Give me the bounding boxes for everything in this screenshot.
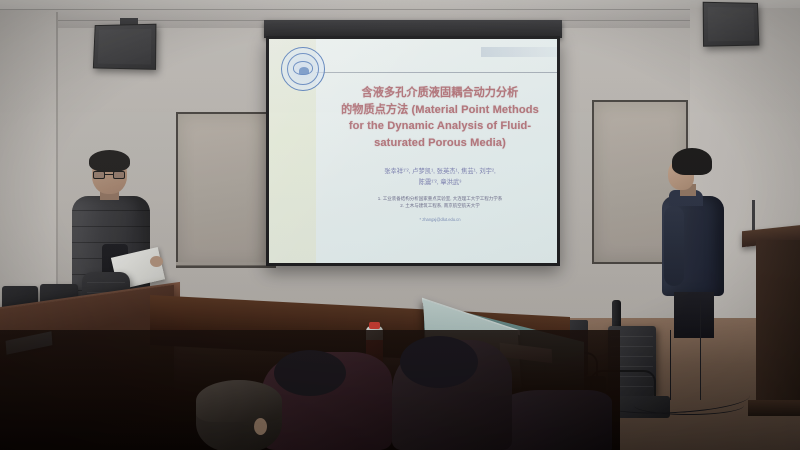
floor-cable — [634, 396, 744, 415]
seal-emblem — [299, 67, 309, 74]
presentation-slide: 含液多孔介质液固耦合动力分析 的物质点方法 (Material Point Me… — [269, 39, 557, 263]
lectern-base — [748, 400, 800, 416]
slide-title-line-2: 的物质点方法 (Material Point Methods — [321, 102, 557, 119]
presenter-right-hand — [150, 256, 163, 267]
slide-authors: 张幸祥¹ʼ², 卢梦凯¹, 张英杰¹, 焦芸¹, 刘宇², 陈震¹ʼ², 章洪武… — [321, 167, 557, 188]
presentation-photo: 含液多孔介质液固耦合动力分析 的物质点方法 (Material Point Me… — [0, 0, 800, 450]
presenter-hair — [89, 150, 130, 172]
audience-member-1 — [196, 380, 282, 450]
lectern-body — [756, 240, 800, 406]
slide-title-line-4: saturated Porous Media) — [321, 135, 557, 152]
audience-member-3 — [392, 340, 512, 450]
ceiling-seam — [0, 9, 800, 10]
speaker-grill — [708, 7, 755, 42]
slide-divider-rule — [316, 72, 557, 73]
floor-cable — [700, 300, 709, 400]
slide-affiliations: 1. 工业装备结构分析国家重点实验室, 大连理工大学工程力学系 2. 土木与建筑… — [321, 195, 557, 210]
board-tray-left — [176, 262, 276, 266]
standing-attendee — [652, 148, 740, 338]
university-seal-logo — [281, 47, 325, 91]
slide-title: 含液多孔介质液固耦合动力分析 的物质点方法 (Material Point Me… — [321, 85, 557, 151]
wall-speaker-right — [703, 2, 760, 47]
affiliation-line-2: 2. 土木与建筑工程系, 南京航空航天大学 — [321, 202, 557, 209]
speaker-grill — [98, 29, 152, 65]
slide-header-block — [481, 47, 557, 57]
audience-hair — [274, 350, 346, 396]
slide-title-line-1: 含液多孔介质液固耦合动力分析 — [321, 85, 557, 102]
slide-email: * zhangxj@dlut.edu.cn — [321, 217, 557, 222]
slide-title-line-3: for the Dynamic Analysis of Fluid- — [321, 118, 557, 135]
attendee-arm — [664, 206, 684, 286]
projection-screen: 含液多孔介质液固耦合动力分析 的物质点方法 (Material Point Me… — [266, 36, 560, 266]
whiteboard-panel-left — [176, 112, 276, 268]
water-bottle-cap — [369, 322, 380, 329]
eyeglasses-icon — [93, 171, 125, 179]
floor-cable — [670, 330, 685, 400]
attendee-hair — [672, 148, 712, 175]
audience-ear — [254, 418, 267, 435]
audience-hair — [196, 380, 282, 422]
affiliation-line-1: 1. 工业装备结构分析国家重点实验室, 大连理工大学工程力学系 — [321, 195, 557, 202]
authors-line-2: 陈震¹ʼ², 章洪武³ — [321, 178, 557, 189]
wall-speaker-left — [93, 24, 157, 70]
authors-line-1: 张幸祥¹ʼ², 卢梦凯¹, 张英杰¹, 焦芸¹, 刘宇², — [321, 167, 557, 178]
audience-hair — [400, 336, 478, 388]
